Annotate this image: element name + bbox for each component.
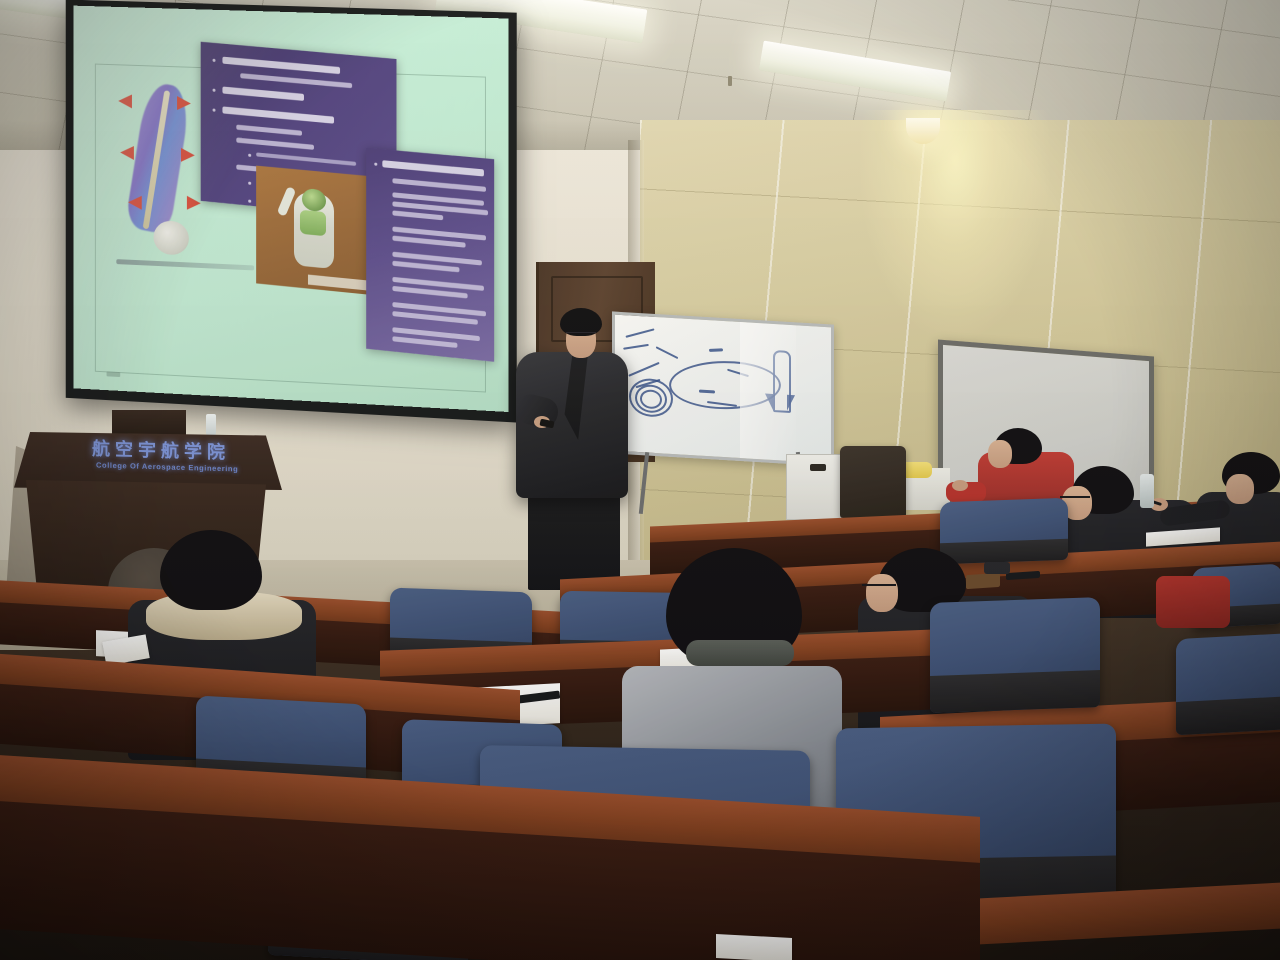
pressure-arrow-icon <box>177 96 191 110</box>
lecturer-glasses-icon <box>566 332 596 339</box>
projection-screen <box>73 6 508 412</box>
phone <box>984 562 1010 574</box>
limb-boot <box>153 220 188 255</box>
slide-text-block-b <box>366 148 494 362</box>
paper-sheet <box>716 934 792 960</box>
seat <box>1176 633 1280 735</box>
sprinkler-head-icon <box>728 76 732 86</box>
pressure-arrow-icon <box>118 94 132 108</box>
seat <box>940 498 1068 564</box>
student-hand <box>952 480 968 491</box>
student-center-collar <box>686 640 794 666</box>
pressure-arrow-icon <box>120 146 134 160</box>
leather-chair[interactable] <box>840 446 906 518</box>
red-bag <box>1156 576 1230 628</box>
lecturer-legs <box>528 486 620 590</box>
whiteboard-glare <box>740 322 796 461</box>
lecture-hall-photo: 航空宇航学院 College Of Aerospace Engineering <box>0 0 1280 960</box>
student-center-right-face <box>866 574 898 612</box>
microphone <box>810 464 826 471</box>
water-bottle <box>206 414 216 436</box>
student-red-jacket-face <box>988 440 1012 468</box>
photo-caption-bar <box>308 275 370 291</box>
whiteboard-stand <box>640 452 806 522</box>
wall-sconce-glow <box>860 110 1050 340</box>
slide-page-number <box>107 371 121 377</box>
pressure-arrow-icon <box>187 196 201 210</box>
astronaut-torso <box>300 210 326 237</box>
pressure-arrow-icon <box>128 195 142 209</box>
student-writing-face <box>1226 474 1254 504</box>
slide-mars-photo <box>256 166 374 296</box>
seat <box>930 597 1100 713</box>
podium-control-box <box>112 410 186 436</box>
whiteboard-main[interactable] <box>612 311 834 466</box>
water-bottle <box>1140 474 1154 508</box>
glasses-icon <box>862 584 896 593</box>
pressure-arrow-icon <box>181 148 195 162</box>
notebook <box>966 573 1000 589</box>
